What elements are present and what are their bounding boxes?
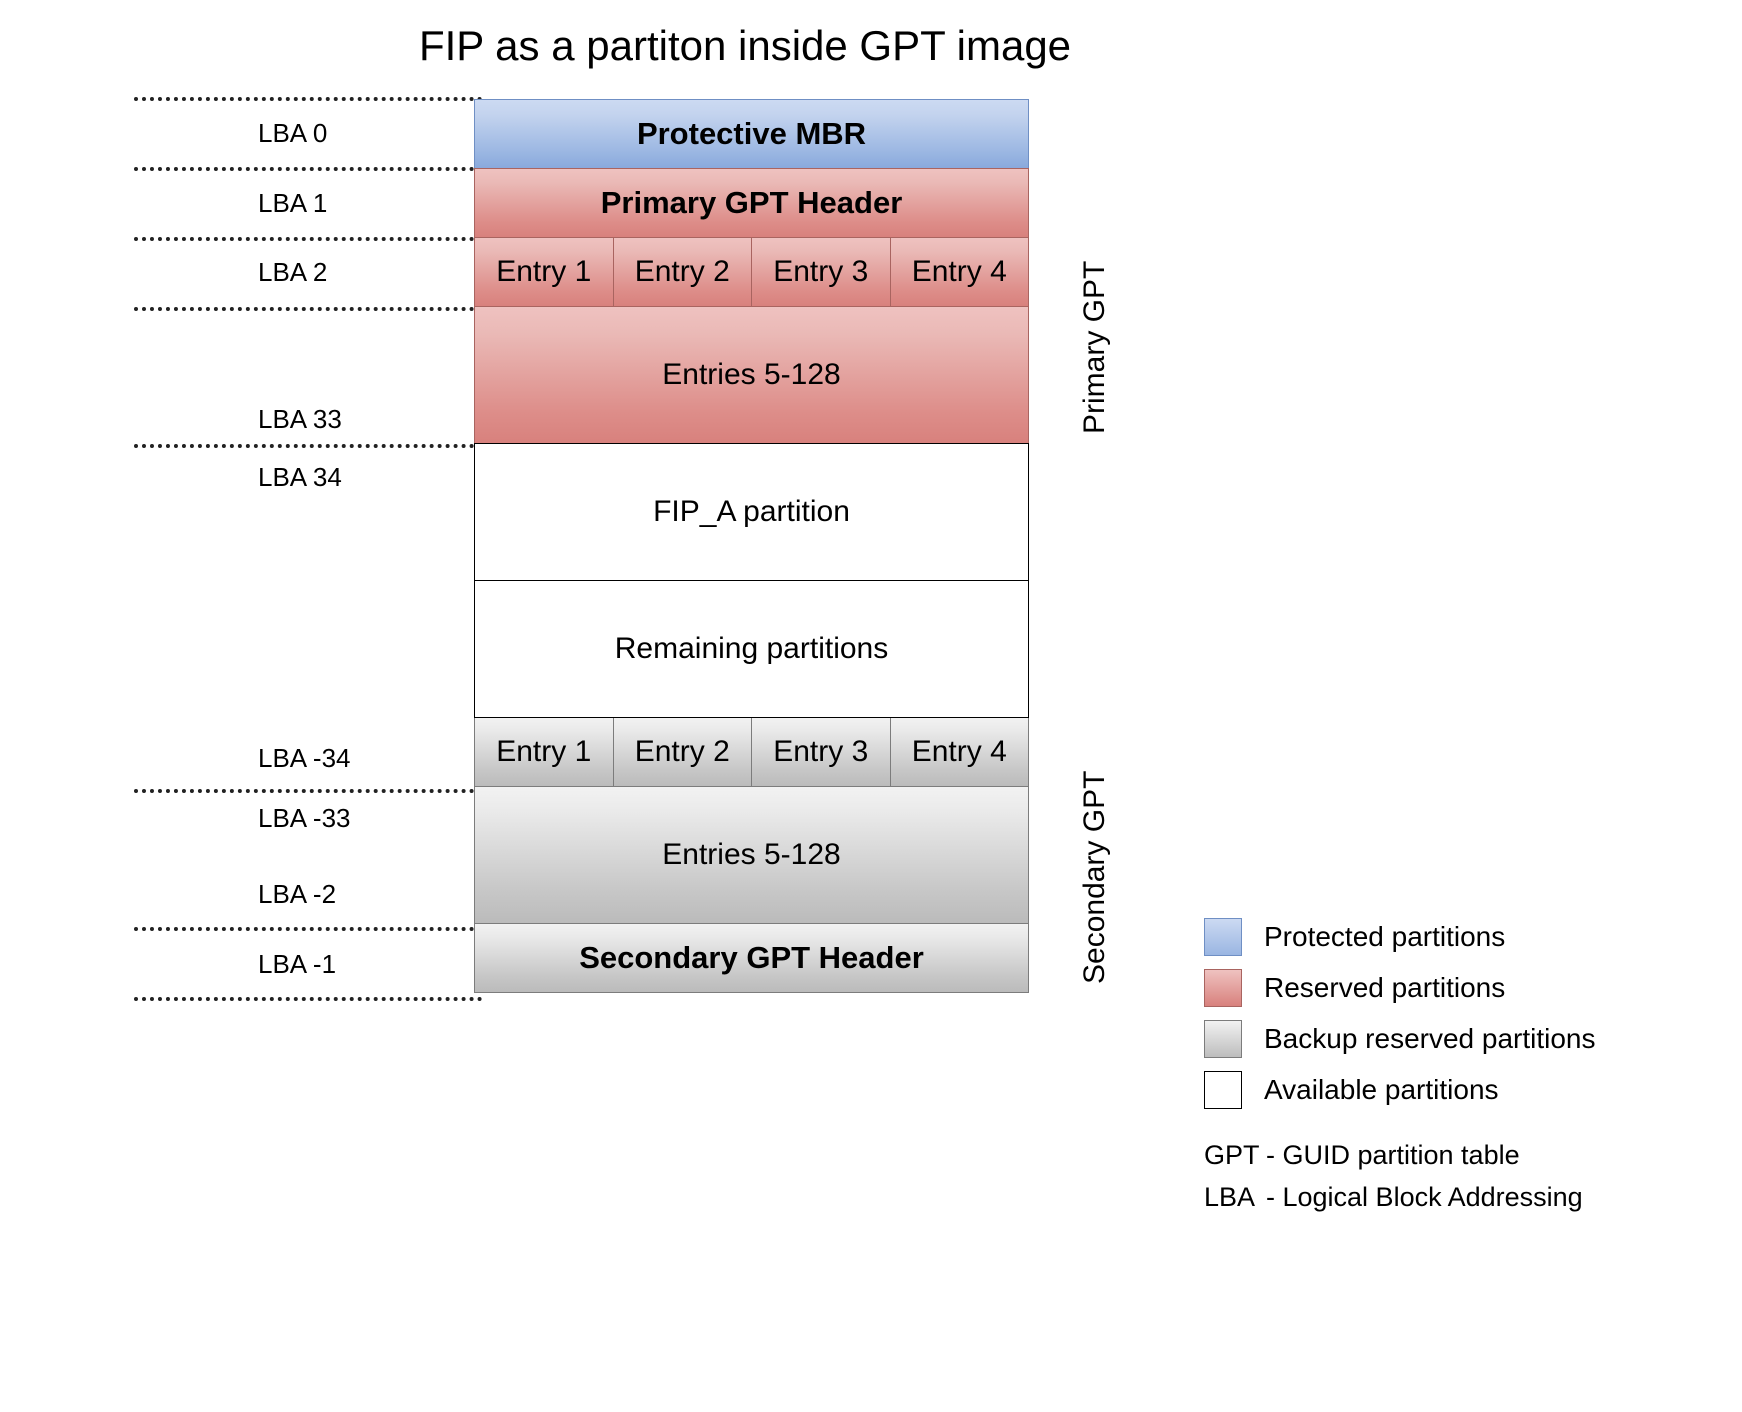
- legend-label: Backup reserved partitions: [1264, 1023, 1596, 1055]
- lba-label-lba-33: LBA 33: [258, 404, 342, 435]
- legend: Protected partitionsReserved partitionsB…: [1204, 912, 1724, 1116]
- lba-label-lba--2: LBA -2: [258, 879, 336, 910]
- side-label-secondary-gpt: Secondary GPT: [1078, 771, 1112, 984]
- legend-swatch-icon: [1204, 918, 1242, 956]
- abbreviation-key: GPT: [1204, 1140, 1266, 1171]
- entry-cell: Entry 3: [751, 717, 891, 787]
- entry-cell: Entry 1: [474, 237, 614, 307]
- lba-label-lba--1: LBA -1: [258, 949, 336, 980]
- abbreviations-list: GPT- GUID partition tableLBA- Logical Bl…: [1204, 1140, 1583, 1224]
- block-primary-entries-1-4: Entry 1Entry 2Entry 3Entry 4: [474, 237, 1029, 307]
- legend-label: Reserved partitions: [1264, 972, 1505, 1004]
- abbreviation-row: GPT- GUID partition table: [1204, 1140, 1583, 1182]
- lba-label-lba-1: LBA 1: [258, 188, 327, 219]
- legend-swatch-icon: [1204, 1071, 1242, 1109]
- page-title: FIP as a partiton inside GPT image: [0, 22, 1490, 70]
- lba-label-lba-2: LBA 2: [258, 257, 327, 288]
- lba-label-lba-0: LBA 0: [258, 118, 327, 149]
- lba-label-lba-34: LBA 34: [258, 462, 342, 493]
- block-fip-a-partition: FIP_A partition: [474, 443, 1029, 581]
- lba-guide-line: [134, 927, 482, 931]
- lba-guide-line: [134, 444, 482, 448]
- entry-cell: Entry 3: [751, 237, 891, 307]
- lba-guide-line: [134, 167, 482, 171]
- legend-item-protected: Protected partitions: [1204, 912, 1724, 962]
- legend-item-available: Available partitions: [1204, 1065, 1724, 1115]
- legend-swatch-icon: [1204, 969, 1242, 1007]
- abbreviation-value: - GUID partition table: [1266, 1140, 1520, 1171]
- gpt-block-stack: Protective MBRPrimary GPT HeaderEntry 1E…: [474, 99, 1029, 993]
- lba-guide-line: [134, 997, 482, 1001]
- lba-guide-line: [134, 307, 482, 311]
- entry-cell: Entry 2: [613, 717, 753, 787]
- abbreviation-key: LBA: [1204, 1182, 1266, 1213]
- lba-label-lba--34: LBA -34: [258, 743, 351, 774]
- lba-guide-line: [134, 789, 482, 793]
- entry-cell: Entry 2: [613, 237, 753, 307]
- lba-guide-line: [134, 97, 482, 101]
- legend-label: Available partitions: [1264, 1074, 1499, 1106]
- lba-label-lba--33: LBA -33: [258, 803, 351, 834]
- entry-cell: Entry 4: [890, 237, 1030, 307]
- block-remaining-partitions: Remaining partitions: [474, 580, 1029, 718]
- abbreviation-row: LBA- Logical Block Addressing: [1204, 1182, 1583, 1224]
- entry-cell: Entry 4: [890, 717, 1030, 787]
- legend-label: Protected partitions: [1264, 921, 1505, 953]
- block-secondary-entries-5-128: Entries 5-128: [474, 786, 1029, 924]
- legend-swatch-icon: [1204, 1020, 1242, 1058]
- legend-item-reserved: Reserved partitions: [1204, 963, 1724, 1013]
- lba-guide-line: [134, 237, 482, 241]
- block-secondary-gpt-header: Secondary GPT Header: [474, 923, 1029, 993]
- abbreviation-value: - Logical Block Addressing: [1266, 1182, 1583, 1213]
- block-primary-gpt-header: Primary GPT Header: [474, 168, 1029, 238]
- legend-item-backup-reserved: Backup reserved partitions: [1204, 1014, 1724, 1064]
- block-primary-entries-5-128: Entries 5-128: [474, 306, 1029, 444]
- entry-cell: Entry 1: [474, 717, 614, 787]
- block-protective-mbr: Protective MBR: [474, 99, 1029, 169]
- side-label-primary-gpt: Primary GPT: [1078, 261, 1112, 434]
- block-secondary-entries-1-4: Entry 1Entry 2Entry 3Entry 4: [474, 717, 1029, 787]
